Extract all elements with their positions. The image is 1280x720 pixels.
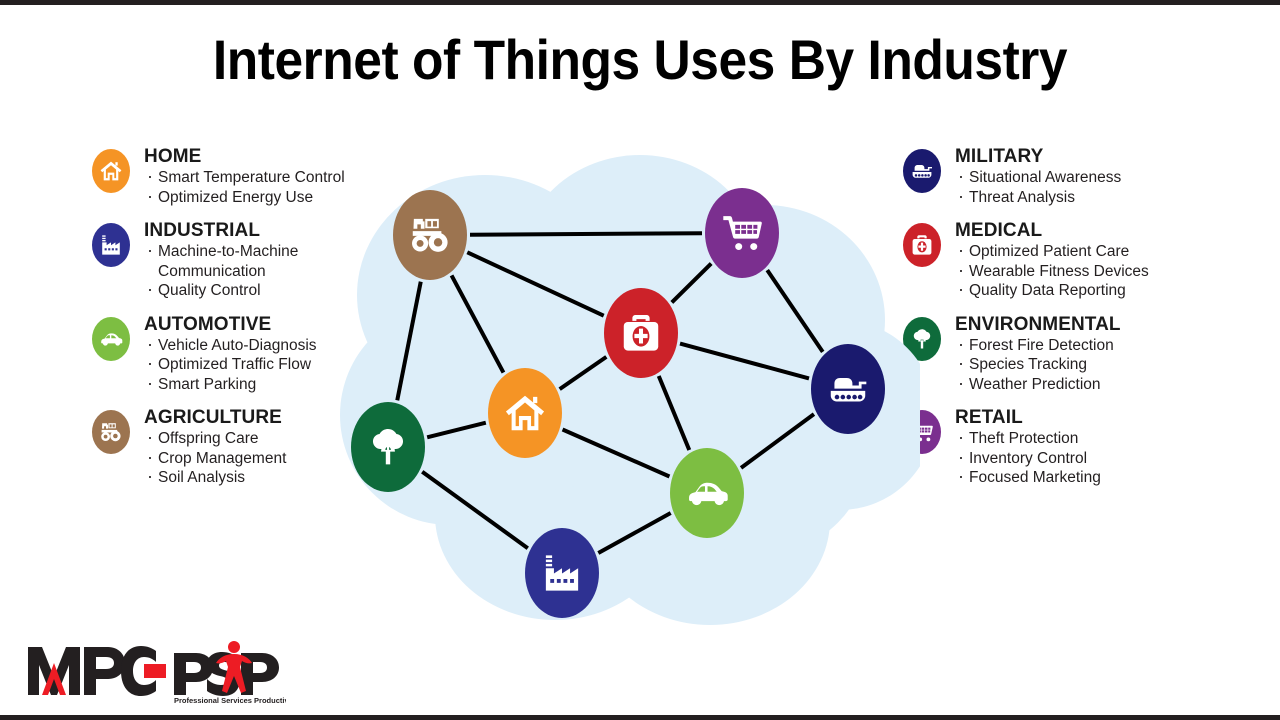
- tractor-icon: [408, 213, 452, 257]
- list-item: Wearable Fitness Devices: [955, 262, 1203, 282]
- network-edge-agriculture-retail: [470, 233, 702, 234]
- list-item: Situational Awareness: [955, 168, 1203, 188]
- tree-icon: [366, 425, 410, 469]
- list-item: Threat Analysis: [955, 188, 1203, 208]
- factory-icon: [92, 223, 130, 267]
- category-items-medical: Optimized Patient CareWearable Fitness D…: [955, 242, 1203, 301]
- network-node-environmental[interactable]: Environmental: [351, 402, 425, 492]
- category-medical: MEDICALOptimized Patient CareWearable Fi…: [903, 221, 1203, 301]
- tractor-icon: [92, 410, 130, 454]
- iot-network-diagram: AgricultureRetailMedicalMilitaryHomeEnvi…: [340, 145, 920, 635]
- category-items-military: Situational AwarenessThreat Analysis: [955, 168, 1203, 207]
- logo-tagline: Professional Services Productivity Nexus: [174, 696, 286, 705]
- list-item: Inventory Control: [955, 449, 1203, 469]
- category-items-environmental: Forest Fire DetectionSpecies TrackingWea…: [955, 336, 1203, 395]
- list-item: Theft Protection: [955, 429, 1203, 449]
- list-item: Optimized Patient Care: [955, 242, 1203, 262]
- category-military: MILITARYSituational AwarenessThreat Anal…: [903, 147, 1203, 207]
- list-item: Quality Data Reporting: [955, 281, 1203, 301]
- list-item: Species Tracking: [955, 355, 1203, 375]
- shopping-cart-icon: [720, 211, 764, 255]
- network-node-agriculture[interactable]: Agriculture: [393, 190, 467, 280]
- right-category-column: MILITARYSituational AwarenessThreat Anal…: [903, 145, 1203, 502]
- list-item: Weather Prediction: [955, 375, 1203, 395]
- network-node-retail[interactable]: Retail: [705, 188, 779, 278]
- network-node-medical[interactable]: Medical: [604, 288, 678, 378]
- tank-icon: [826, 367, 870, 411]
- mpc-wordmark: [28, 646, 166, 696]
- mpc-pspn-logo: Professional Services Productivity Nexus: [26, 633, 286, 705]
- page-title: Internet of Things Uses By Industry: [51, 27, 1229, 92]
- factory-icon: [540, 551, 584, 595]
- car-icon: [685, 471, 729, 515]
- category-title-retail: RETAIL: [955, 408, 1203, 428]
- category-title-environmental: ENVIRONMENTAL: [955, 315, 1203, 335]
- category-environmental: ENVIRONMENTALForest Fire DetectionSpecie…: [903, 315, 1203, 395]
- category-retail: RETAILTheft ProtectionInventory ControlF…: [903, 408, 1203, 488]
- network-node-home[interactable]: Home: [488, 368, 562, 458]
- house-icon: [503, 391, 547, 435]
- network-node-automotive[interactable]: Automotive: [670, 448, 744, 538]
- network-node-military[interactable]: Military: [811, 344, 885, 434]
- car-icon: [92, 317, 130, 361]
- network-node-industrial[interactable]: Industrial: [525, 528, 599, 618]
- list-item: Focused Marketing: [955, 468, 1203, 488]
- first-aid-kit-icon: [619, 311, 663, 355]
- list-item: Forest Fire Detection: [955, 336, 1203, 356]
- slide-canvas: Internet of Things Uses By Industry HOME…: [0, 0, 1280, 720]
- category-title-medical: MEDICAL: [955, 221, 1203, 241]
- category-items-retail: Theft ProtectionInventory ControlFocused…: [955, 429, 1203, 488]
- house-icon: [92, 149, 130, 193]
- category-title-military: MILITARY: [955, 147, 1203, 167]
